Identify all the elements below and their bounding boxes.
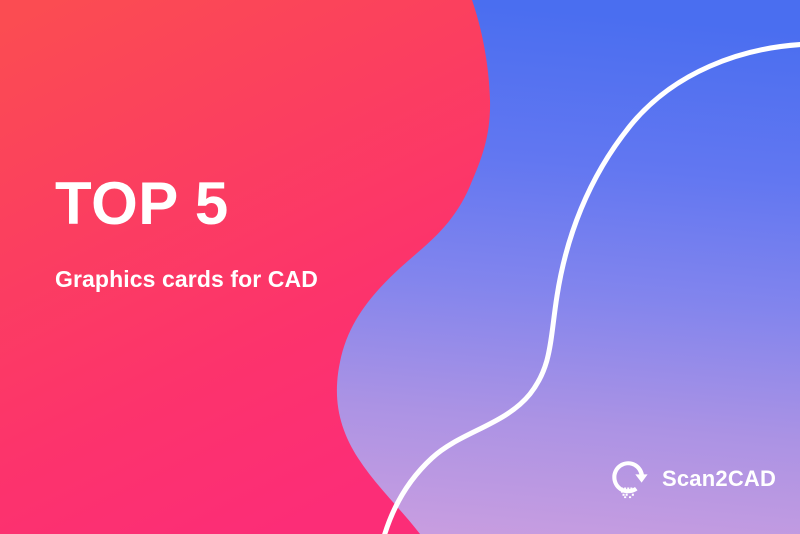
promo-banner: TOP 5 Graphics cards for CAD (0, 0, 800, 534)
page-title: TOP 5 (55, 172, 229, 235)
brand-name-label: Scan2CAD (662, 466, 776, 492)
circular-arrow-refresh-icon (606, 457, 650, 501)
brand-lockup: Scan2CAD (606, 456, 776, 502)
page-subtitle: Graphics cards for CAD (55, 266, 318, 293)
content-layer: TOP 5 Graphics cards for CAD (0, 0, 800, 534)
